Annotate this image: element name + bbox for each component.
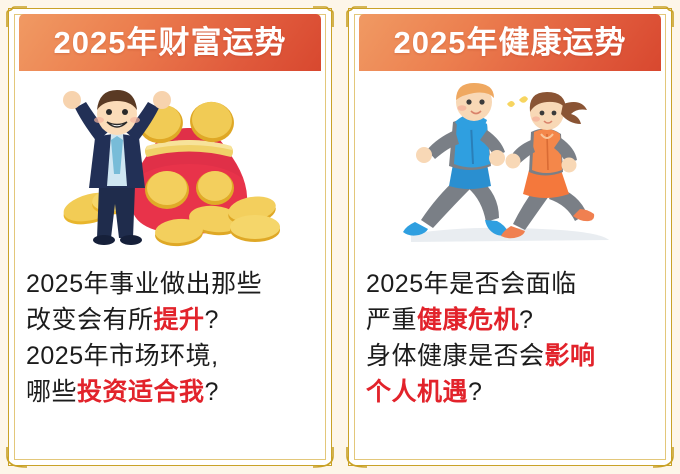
card-banner-health: 2025年健康运势 (359, 14, 661, 71)
poster-root: 2025年财富运势 (0, 0, 680, 474)
text-line: 个人机遇? (366, 374, 662, 410)
card-title-health: 2025年健康运势 (394, 27, 627, 58)
text-segment: ? (468, 378, 482, 406)
text-segment-highlight: 个人机遇 (366, 378, 468, 406)
text-line: 身体健康是否会影响 (366, 338, 662, 374)
text-segment: 身体健康是否会 (366, 342, 545, 370)
text-line: 严重健康危机? (366, 302, 662, 338)
text-line: 2025年事业做出那些 (26, 266, 322, 302)
text-segment: 改变会有所 (26, 306, 154, 334)
fortune-card-wealth[interactable]: 2025年财富运势 (0, 0, 340, 474)
card-text-health: 2025年是否会面临 严重健康危机? 身体健康是否会影响 个人机遇? (366, 266, 662, 410)
text-line: 改变会有所提升? (26, 302, 322, 338)
text-segment: 2025年是否会面临 (366, 270, 577, 298)
text-segment: ? (205, 378, 219, 406)
text-line: 2025年市场环境, (26, 338, 322, 374)
text-segment: ? (205, 306, 219, 334)
card-title-wealth: 2025年财富运势 (54, 27, 287, 58)
text-segment: 哪些 (26, 378, 77, 406)
businessman-with-money-bag-icon (14, 78, 326, 256)
text-segment: 2025年市场环境, (26, 342, 219, 370)
card-banner-wealth: 2025年财富运势 (19, 14, 321, 71)
text-segment: ? (519, 306, 533, 334)
card-text-wealth: 2025年事业做出那些 改变会有所提升? 2025年市场环境, 哪些投资适合我? (26, 266, 322, 410)
text-line: 2025年是否会面临 (366, 266, 662, 302)
fortune-card-health[interactable]: 2025年健康运势 (340, 0, 680, 474)
text-segment-highlight: 影响 (545, 342, 596, 370)
text-segment-highlight: 提升 (154, 306, 205, 334)
running-couple-icon (354, 78, 666, 256)
text-line: 哪些投资适合我? (26, 374, 322, 410)
text-segment-highlight: 健康危机 (417, 306, 519, 334)
text-segment: 严重 (366, 306, 417, 334)
text-segment-highlight: 投资适合我 (77, 378, 205, 406)
text-segment: 2025年事业做出那些 (26, 270, 262, 298)
